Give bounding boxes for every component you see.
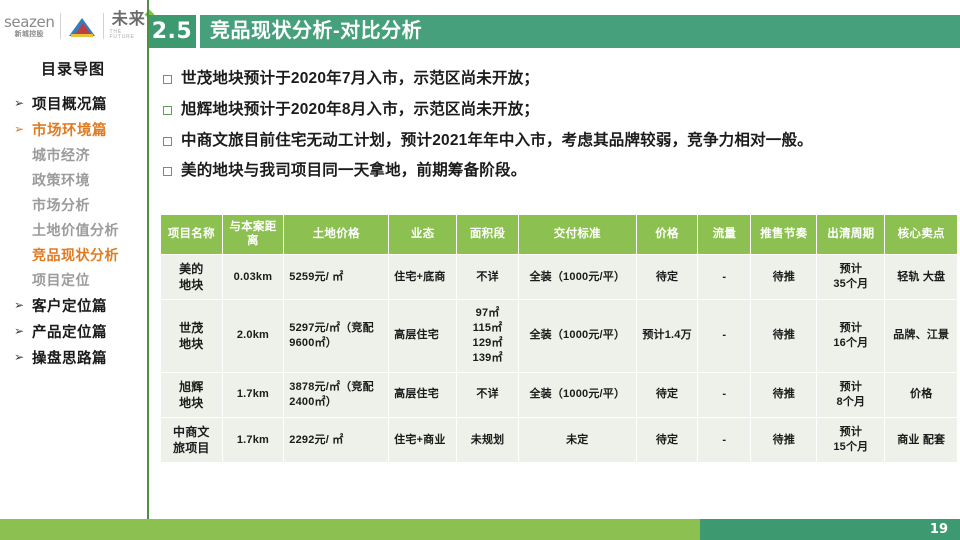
table-cell-r0-c5: 全装（1000元/平） (518, 254, 636, 299)
sidebar-subitem-7[interactable]: 项目定位 (0, 267, 146, 292)
sidebar-list: ➢项目概况篇➢市场环境篇城市经济政策环境市场分析土地价值分析竞品现状分析项目定位… (0, 90, 146, 370)
future-logo: 未来 THE FUTURE (110, 12, 149, 40)
table-cell-r3-c10: 商业 配套 (885, 417, 958, 462)
sidebar-item-8[interactable]: ➢客户定位篇 (0, 292, 146, 318)
table-cell-r3-c6: 待定 (636, 417, 698, 462)
arrow-right-icon: ➢ (14, 123, 25, 135)
table-cell-r1-c5: 全装（1000元/平） (518, 300, 636, 372)
table-body: 美的 地块0.03km5259元/ ㎡住宅+底商不详全装（1000元/平）待定-… (161, 254, 958, 463)
bullet-text: 美的地块与我司项目同一天拿地，前期筹备阶段。 (181, 162, 526, 180)
table-header-row: 项目名称与本案距离土地价格业态面积段交付标准价格流量推售节奏出清周期核心卖点 (161, 215, 958, 255)
page-title: 竞品现状分析-对比分析 (210, 15, 422, 48)
table-cell-r3-c4: 未规划 (457, 417, 519, 462)
bullet-item-3: 美的地块与我司项目同一天拿地，前期筹备阶段。 (163, 162, 953, 180)
sidebar-subitem-label: 城市经济 (32, 145, 90, 165)
competitor-comparison-table: 项目名称与本案距离土地价格业态面积段交付标准价格流量推售节奏出清周期核心卖点 美… (160, 214, 958, 463)
table-cell-r2-c9: 预计 8个月 (817, 372, 885, 417)
bullet-list: 世茂地块预计于2020年7月入市，示范区尚未开放；旭辉地块预计于2020年8月入… (163, 70, 953, 193)
bullet-item-1: 旭辉地块预计于2020年8月入市，示范区尚未开放； (163, 101, 953, 119)
table-cell-r2-c6: 待定 (636, 372, 698, 417)
table-col-header-2: 土地价格 (284, 215, 389, 255)
seazen-logo-en: seazen (4, 15, 54, 30)
footer-bar-left (0, 519, 700, 540)
table-col-header-6: 价格 (636, 215, 698, 255)
header-bar: 竞品现状分析-对比分析 (200, 15, 960, 48)
table-col-header-7: 流量 (698, 215, 751, 255)
sidebar-subitem-5[interactable]: 土地价值分析 (0, 217, 146, 242)
future-logo-sub: THE FUTURE (110, 30, 149, 40)
sidebar-item-label: 客户定位篇 (32, 295, 107, 316)
arrow-right-icon: ➢ (14, 351, 25, 363)
logo-divider-1 (60, 13, 61, 39)
sidebar-item-label: 操盘思路篇 (32, 347, 107, 368)
table-col-header-9: 出清周期 (817, 215, 885, 255)
table-cell-r1-c4: 97㎡ 115㎡ 129㎡ 139㎡ (457, 300, 519, 372)
table-col-header-1: 与本案距离 (222, 215, 284, 255)
sidebar-subitem-label: 市场分析 (32, 195, 90, 215)
table-cell-r2-c8: 待推 (751, 372, 817, 417)
table-cell-r1-c8: 待推 (751, 300, 817, 372)
table-cell-r2-c10: 价格 (885, 372, 958, 417)
sidebar-item-label: 项目概况篇 (32, 93, 107, 114)
bullet-square-icon (163, 167, 172, 176)
table-cell-r3-c5: 未定 (518, 417, 636, 462)
sidebar-item-10[interactable]: ➢操盘思路篇 (0, 344, 146, 370)
sidebar-nav: 目录导图 ➢项目概况篇➢市场环境篇城市经济政策环境市场分析土地价值分析竞品现状分… (0, 58, 146, 370)
table-cell-r0-c0: 美的 地块 (161, 254, 223, 299)
table-cell-r0-c9: 预计 35个月 (817, 254, 885, 299)
table-cell-r3-c0: 中商文 旅项目 (161, 417, 223, 462)
logo-divider-2 (103, 13, 104, 39)
table-cell-r2-c0: 旭辉 地块 (161, 372, 223, 417)
table-row: 旭辉 地块1.7km3878元/㎡（竞配2400㎡）高层住宅不详全装（1000元… (161, 372, 958, 417)
seazen-logo-cn: 新城控股 (15, 31, 44, 38)
bullet-item-0: 世茂地块预计于2020年7月入市，示范区尚未开放； (163, 70, 953, 88)
table-cell-r3-c8: 待推 (751, 417, 817, 462)
sidebar-subitem-label: 土地价值分析 (32, 220, 119, 240)
section-number-badge: 2.5 (148, 15, 196, 48)
table-cell-r1-c1: 2.0km (222, 300, 284, 372)
table-cell-r1-c7: - (698, 300, 751, 372)
bullet-text: 中商文旅目前住宅无动工计划，预计2021年年中入市，考虑其品牌较弱，竞争力相对一… (181, 132, 813, 150)
sidebar-item-0[interactable]: ➢项目概况篇 (0, 90, 146, 116)
sidebar-item-label: 市场环境篇 (32, 119, 107, 140)
table-cell-r2-c1: 1.7km (222, 372, 284, 417)
future-logo-cn: 未来 (112, 12, 146, 28)
table-cell-r2-c5: 全装（1000元/平） (518, 372, 636, 417)
table-cell-r1-c10: 品牌、江景 (885, 300, 958, 372)
seazen-logo: seazen 新城控股 (4, 15, 54, 38)
sidebar-subitem-label: 政策环境 (32, 170, 90, 190)
table-cell-r2-c3: 高层住宅 (389, 372, 457, 417)
table-cell-r0-c7: - (698, 254, 751, 299)
arrow-right-icon: ➢ (14, 299, 25, 311)
table-col-header-3: 业态 (389, 215, 457, 255)
table-cell-r0-c8: 待推 (751, 254, 817, 299)
bullet-square-icon (163, 75, 172, 84)
table-cell-r3-c3: 住宅+商业 (389, 417, 457, 462)
bullet-square-icon (163, 137, 172, 146)
sidebar-subitem-label: 竞品现状分析 (32, 245, 119, 265)
vertical-divider (147, 0, 149, 519)
table-col-header-4: 面积段 (457, 215, 519, 255)
bullet-square-icon (163, 106, 172, 115)
table-cell-r2-c7: - (698, 372, 751, 417)
table-cell-r3-c7: - (698, 417, 751, 462)
table-cell-r3-c1: 1.7km (222, 417, 284, 462)
table-cell-r0-c10: 轻轨 大盘 (885, 254, 958, 299)
table-cell-r1-c6: 预计1.4万 (636, 300, 698, 372)
table-cell-r0-c6: 待定 (636, 254, 698, 299)
sidebar-subitem-6[interactable]: 竞品现状分析 (0, 242, 146, 267)
table-col-header-0: 项目名称 (161, 215, 223, 255)
arrow-right-icon: ➢ (14, 325, 25, 337)
sidebar-subitem-2[interactable]: 城市经济 (0, 142, 146, 167)
table-row: 世茂 地块2.0km5297元/㎡（竞配9600㎡）高层住宅97㎡ 115㎡ 1… (161, 300, 958, 372)
sidebar-item-9[interactable]: ➢产品定位篇 (0, 318, 146, 344)
partner-mark-icon (67, 14, 96, 38)
sidebar-subitem-label: 项目定位 (32, 270, 90, 290)
table-col-header-5: 交付标准 (518, 215, 636, 255)
footer-bar-right (700, 519, 960, 540)
arrow-right-icon: ➢ (14, 97, 25, 109)
sidebar-subitem-3[interactable]: 政策环境 (0, 167, 146, 192)
table-cell-r1-c3: 高层住宅 (389, 300, 457, 372)
table-cell-r2-c4: 不详 (457, 372, 519, 417)
table-cell-r0-c2: 5259元/ ㎡ (284, 254, 389, 299)
table-row: 中商文 旅项目1.7km2292元/ ㎡住宅+商业未规划未定待定-待推预计 15… (161, 417, 958, 462)
sidebar-item-label: 产品定位篇 (32, 321, 107, 342)
sidebar-title: 目录导图 (0, 58, 146, 79)
table-col-header-8: 推售节奏 (751, 215, 817, 255)
table-cell-r3-c9: 预计 15个月 (817, 417, 885, 462)
table-row: 美的 地块0.03km5259元/ ㎡住宅+底商不详全装（1000元/平）待定-… (161, 254, 958, 299)
table-cell-r0-c1: 0.03km (222, 254, 284, 299)
table-cell-r2-c2: 3878元/㎡（竞配2400㎡） (284, 372, 389, 417)
sidebar-subitem-4[interactable]: 市场分析 (0, 192, 146, 217)
sidebar-item-1[interactable]: ➢市场环境篇 (0, 116, 146, 142)
table-cell-r1-c0: 世茂 地块 (161, 300, 223, 372)
table-cell-r3-c2: 2292元/ ㎡ (284, 417, 389, 462)
logo-strip: seazen 新城控股 未来 THE FUTURE (0, 4, 148, 48)
table-cell-r1-c2: 5297元/㎡（竞配9600㎡） (284, 300, 389, 372)
page-number: 19 (930, 519, 948, 540)
table-cell-r0-c3: 住宅+底商 (389, 254, 457, 299)
bullet-item-2: 中商文旅目前住宅无动工计划，预计2021年年中入市，考虑其品牌较弱，竞争力相对一… (163, 132, 953, 150)
slide-canvas: seazen 新城控股 未来 THE FUTURE 2.5 竞品现状分析-对比分… (0, 0, 960, 540)
table-col-header-10: 核心卖点 (885, 215, 958, 255)
bullet-text: 旭辉地块预计于2020年8月入市，示范区尚未开放； (181, 101, 539, 119)
table-cell-r0-c4: 不详 (457, 254, 519, 299)
bullet-text: 世茂地块预计于2020年7月入市，示范区尚未开放； (181, 70, 539, 88)
table-cell-r1-c9: 预计 16个月 (817, 300, 885, 372)
